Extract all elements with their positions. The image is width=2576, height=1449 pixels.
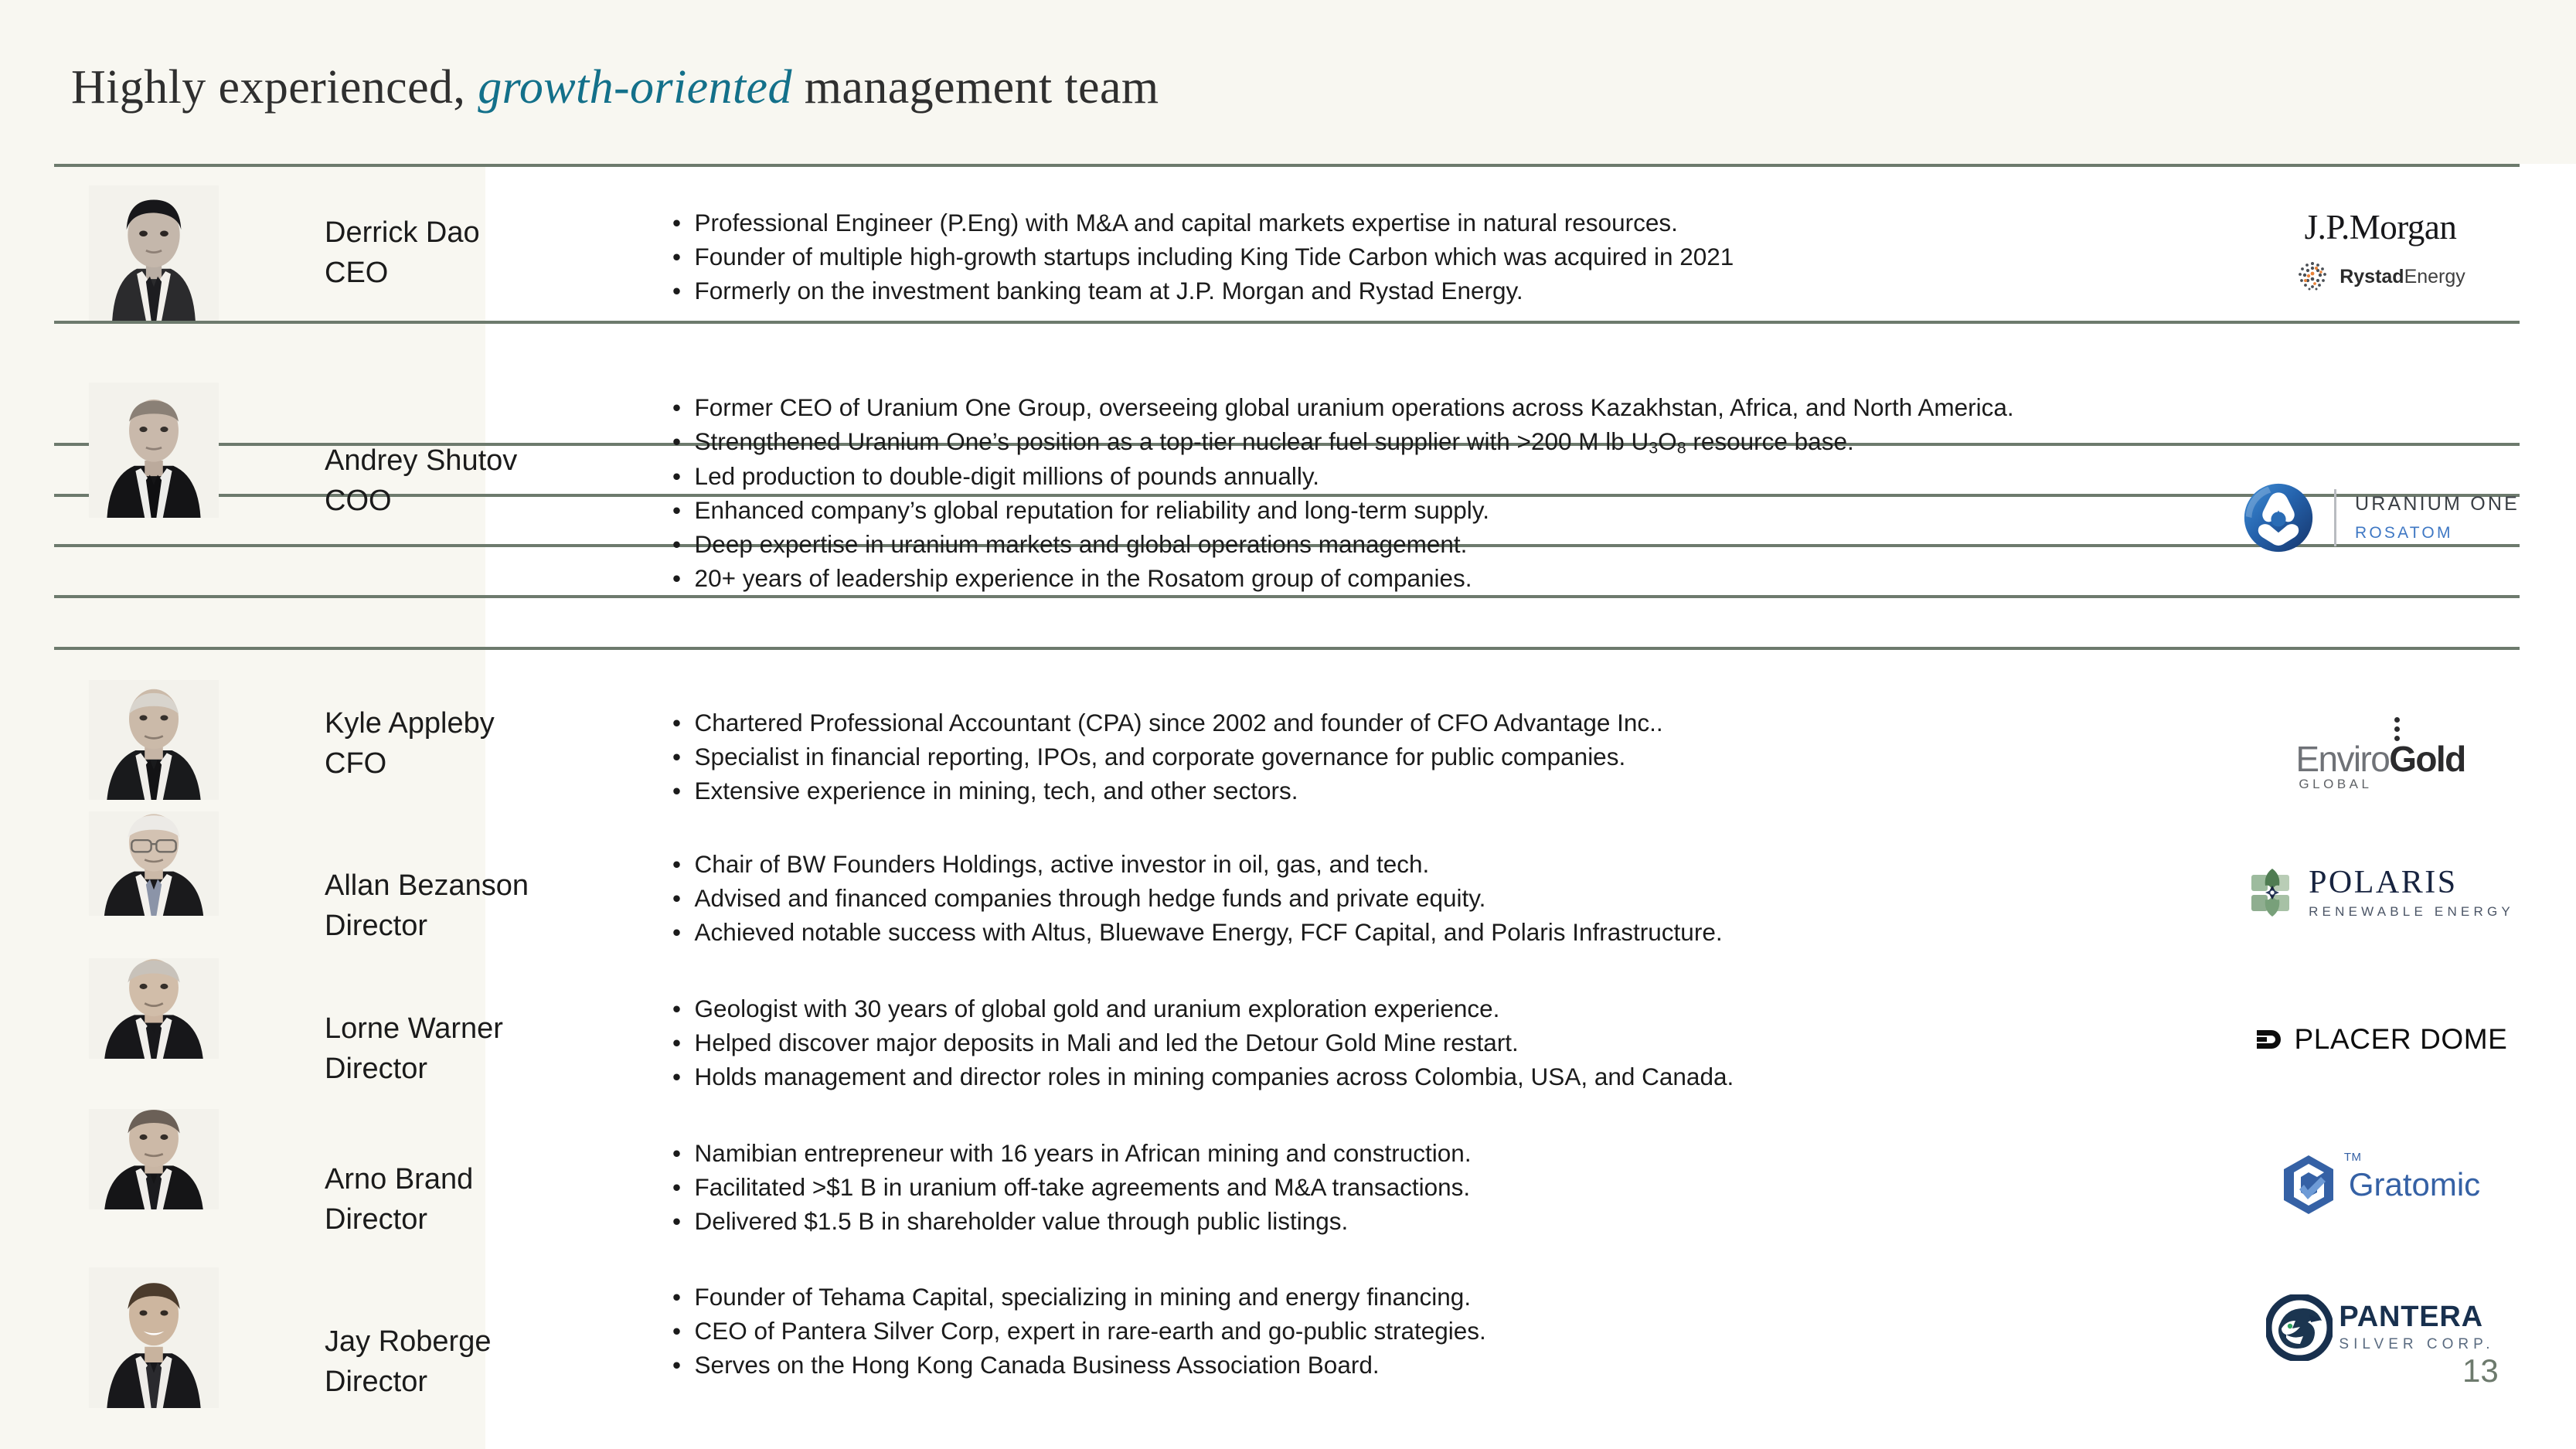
person-bullets: Chair of BW Founders Holdings, active in…: [672, 849, 2164, 951]
uranium-one-wordmark: URANIUM ONE ROSATOM: [2355, 492, 2520, 544]
person-role: CEO: [325, 253, 480, 293]
bullet-item: Enhanced company’s global reputation for…: [672, 495, 2164, 527]
rosatom-atom-icon: [2241, 481, 2316, 555]
person-role: Director: [325, 1362, 491, 1402]
avatar: [89, 958, 219, 1059]
person-role: Director: [325, 1049, 503, 1089]
bullet-item: Professional Engineer (P.Eng) with M&A a…: [672, 207, 2164, 240]
person-name: Allan Bezanson: [325, 866, 529, 906]
bullet-item: Geologist with 30 years of global gold a…: [672, 993, 2164, 1026]
bullet-item: Helped discover major deposits in Mali a…: [672, 1027, 2164, 1060]
person-role: COO: [325, 481, 517, 521]
polaris-logo: POLARIS RENEWABLE ENERGY: [2247, 866, 2514, 920]
bullet-item: Founder of multiple high-growth startups…: [672, 241, 2164, 274]
avatar: [89, 185, 219, 321]
company-logo-group: TM Gratomic: [2210, 1136, 2550, 1233]
gratomic-wordmark: Gratomic: [2349, 1166, 2480, 1203]
bullet-item: Delivered $1.5 B in shareholder value th…: [672, 1206, 2164, 1238]
gold-text: Gold: [2389, 739, 2465, 779]
avatar: [89, 383, 219, 518]
person-name-role: Allan Bezanson Director: [325, 866, 529, 947]
person-bullets: Former CEO of Uranium One Group, oversee…: [672, 392, 2164, 597]
person-name: Kyle Appleby: [325, 703, 495, 743]
person-bullets: Chartered Professional Accountant (CPA) …: [672, 707, 2164, 809]
bullet-item: Specialist in financial reporting, IPOs,…: [672, 741, 2164, 774]
person-name: Lorne Warner: [325, 1009, 503, 1049]
person-name-role: Andrey Shutov COO: [325, 440, 517, 522]
rystad-bold-text: Rystad: [2339, 266, 2404, 287]
bullet-item: Formerly on the investment banking team …: [672, 275, 2164, 308]
person-bullets: Geologist with 30 years of global gold a…: [672, 993, 2164, 1095]
person-name: Arno Brand: [325, 1159, 473, 1199]
avatar: [89, 811, 219, 916]
person-name: Jay Roberge: [325, 1321, 491, 1362]
pantera-panther-icon: [2266, 1294, 2333, 1361]
person-bullets: Professional Engineer (P.Eng) with M&A a…: [672, 207, 2164, 309]
envirogold-logo: EnviroGold GLOBAL: [2295, 738, 2465, 792]
rystad-energy-logo: RystadEnergy: [2295, 260, 2465, 294]
company-logo-group: POLARIS RENEWABLE ENERGY: [2210, 842, 2550, 943]
logo-divider: [2334, 489, 2336, 546]
enviro-text: Enviro: [2295, 739, 2389, 779]
person-bullets: Founder of Tehama Capital, specializing …: [672, 1281, 2164, 1383]
person-name: Andrey Shutov: [325, 440, 517, 481]
placer-dome-mark-icon: [2254, 1023, 2286, 1056]
company-logo-group: URANIUM ONE ROSATOM: [2210, 456, 2550, 580]
person-name: Derrick Dao: [325, 213, 480, 253]
person-role: Director: [325, 1199, 473, 1240]
avatar: [89, 1109, 219, 1209]
gratomic-tm-mark: TM: [2344, 1151, 2362, 1164]
jpmorgan-logo: J.P.Morgan: [2305, 207, 2457, 247]
person-role: CFO: [325, 743, 495, 784]
person-name-role: Jay Roberge Director: [325, 1321, 491, 1403]
polaris-subtext: RENEWABLE ENERGY: [2309, 904, 2514, 920]
bullet-item: Former CEO of Uranium One Group, oversee…: [672, 392, 2164, 424]
rystad-light-text: Energy: [2404, 266, 2465, 287]
polaris-text: POLARIS: [2309, 866, 2514, 899]
bullet-item: Deep expertise in uranium markets and gl…: [672, 529, 2164, 561]
avatar: [89, 680, 219, 800]
placer-dome-wordmark: PLACER DOME: [2295, 1023, 2508, 1056]
person-name-role: Arno Brand Director: [325, 1159, 473, 1240]
page-number: 13: [2462, 1352, 2499, 1389]
bullet-item: 20+ years of leadership experience in th…: [672, 563, 2164, 595]
bullet-item: Achieved notable success with Altus, Blu…: [672, 917, 2164, 949]
pantera-text: PANTERA: [2339, 1302, 2494, 1332]
bullet-item: Chartered Professional Accountant (CPA) …: [672, 707, 2164, 740]
pantera-wordmark: PANTERA SILVER CORP.: [2339, 1302, 2494, 1353]
gratomic-logo: TM Gratomic: [2281, 1154, 2480, 1216]
company-logo-group: J.P.Morgan: [2210, 184, 2550, 317]
company-logo-group: PLACER DOME: [2210, 993, 2550, 1086]
avatar: [89, 1267, 219, 1408]
person-name-role: Kyle Appleby CFO: [325, 703, 495, 784]
person-bullets: Namibian entrepreneur with 16 years in A…: [672, 1138, 2164, 1240]
slide-canvas: Highly experienced, growth-oriented mana…: [0, 0, 2576, 1449]
rystad-wordmark: RystadEnergy: [2339, 266, 2465, 288]
bullet-item: Extensive experience in mining, tech, an…: [672, 775, 2164, 808]
rosatom-text: ROSATOM: [2355, 522, 2520, 544]
bullet-item: Serves on the Hong Kong Canada Business …: [672, 1349, 2164, 1382]
pantera-silver-logo: PANTERA SILVER CORP.: [2266, 1294, 2494, 1361]
person-name-role: Lorne Warner Director: [325, 1009, 503, 1090]
person-role: Director: [325, 906, 529, 946]
uranium-one-logo: URANIUM ONE ROSATOM: [2241, 481, 2520, 555]
bullet-item: Namibian entrepreneur with 16 years in A…: [672, 1138, 2164, 1170]
envirogold-wordmark: EnviroGold: [2295, 738, 2465, 780]
title-text-accent: growth-oriented: [478, 61, 792, 114]
left-cream-column: [0, 164, 485, 1449]
bullet-item: Strengthened Uranium One’s position as a…: [672, 426, 2164, 459]
row-divider-1: [54, 321, 2520, 324]
person-name-role: Derrick Dao CEO: [325, 213, 480, 294]
bullet-item: Founder of Tehama Capital, specializing …: [672, 1281, 2164, 1314]
envirogold-dots-icon: [2394, 717, 2400, 745]
pantera-subtext: SILVER CORP.: [2339, 1336, 2494, 1353]
uranium-one-text: URANIUM ONE: [2355, 492, 2520, 518]
title-text-lead: Highly experienced,: [71, 61, 478, 114]
placer-dome-logo: PLACER DOME: [2254, 1023, 2508, 1056]
page-title: Highly experienced, growth-oriented mana…: [71, 60, 1159, 115]
bullet-item: Led production to double-digit millions …: [672, 461, 2164, 493]
rystad-sphere-icon: [2295, 260, 2329, 294]
bullet-item: Holds management and director roles in m…: [672, 1061, 2164, 1094]
title-text-tail: management team: [792, 61, 1159, 114]
row-divider-top: [54, 164, 2520, 167]
bullet-item: Chair of BW Founders Holdings, active in…: [672, 849, 2164, 881]
bullet-item: Facilitated >$1 B in uranium off-take ag…: [672, 1172, 2164, 1204]
polaris-wordmark: POLARIS RENEWABLE ENERGY: [2309, 866, 2514, 920]
bullet-item: CEO of Pantera Silver Corp, expert in ra…: [672, 1315, 2164, 1348]
row-divider-6: [54, 647, 2520, 650]
polaris-flower-icon: [2247, 867, 2298, 918]
company-logo-group: EnviroGold GLOBAL: [2210, 715, 2550, 815]
gratomic-hexagon-icon: [2281, 1154, 2336, 1216]
company-logo-group: PANTERA SILVER CORP.: [2210, 1279, 2550, 1376]
bullet-item: Advised and financed companies through h…: [672, 883, 2164, 915]
